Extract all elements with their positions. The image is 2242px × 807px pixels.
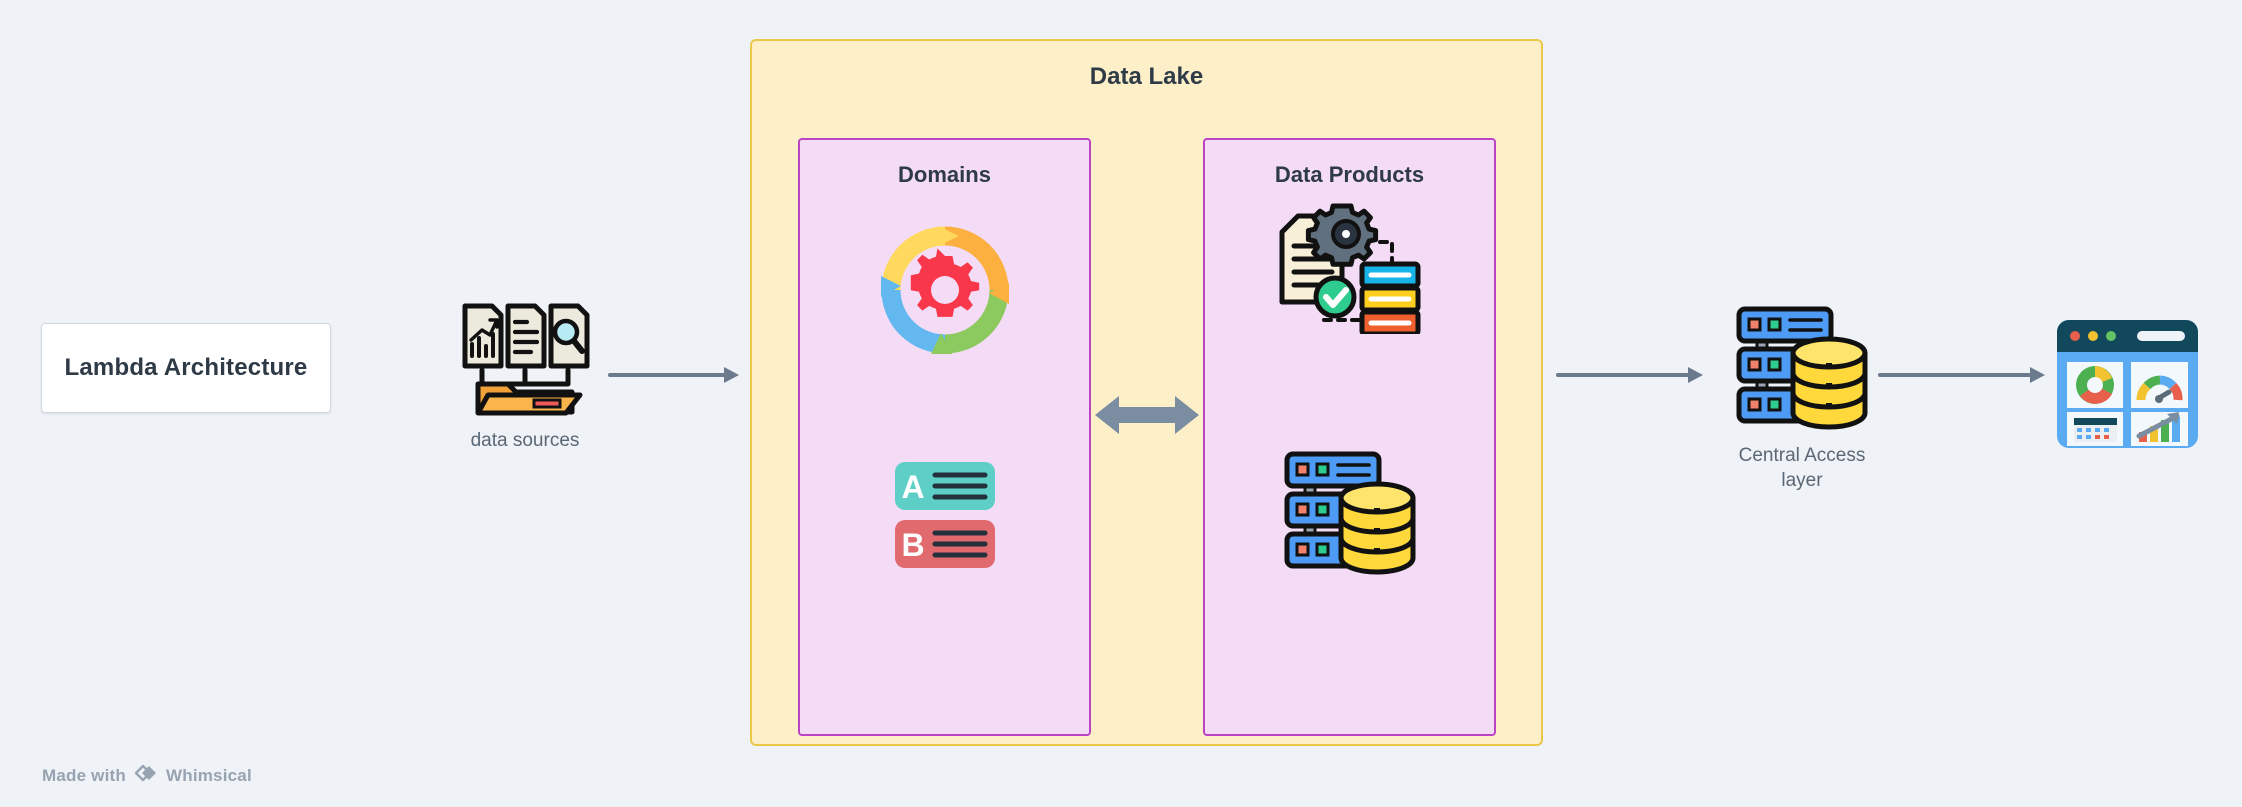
watermark-prefix: Made with (42, 766, 126, 786)
connector-domains-to-products (1093, 390, 1201, 440)
panel-data-products-title: Data Products (1205, 162, 1494, 188)
diagram-canvas: Lambda Architecture (0, 0, 2242, 807)
node-dashboard[interactable] (2055, 318, 2200, 455)
panel-domains-title: Domains (800, 162, 1089, 188)
data-lake-container[interactable]: Data Lake Domains (750, 39, 1543, 746)
lambda-architecture-label: Lambda Architecture (65, 352, 308, 384)
panel-data-products[interactable]: Data Products (1203, 138, 1496, 736)
watermark-brand: Whimsical (166, 766, 252, 786)
ab-cards-icon: A B (800, 460, 1089, 576)
central-access-caption: Central Access layer (1739, 444, 1866, 493)
connector-central-to-dashboard (1878, 363, 2048, 387)
connector-lake-to-central (1556, 363, 1706, 387)
panel-domains[interactable]: Domains (798, 138, 1091, 736)
node-data-sources[interactable]: data sources (460, 300, 590, 454)
dashboard-browser-icon (2055, 318, 2200, 455)
whimsical-watermark: Made with Whimsical (42, 763, 252, 788)
lambda-architecture-box[interactable]: Lambda Architecture (41, 323, 331, 413)
connector-sources-to-lake (608, 363, 742, 387)
server-database-icon (1735, 305, 1869, 436)
documents-folder-icon (460, 300, 590, 421)
node-central-access-layer[interactable]: Central Access layer (1712, 305, 1892, 493)
data-lake-title: Data Lake (752, 63, 1541, 91)
server-database-icon (1205, 450, 1494, 576)
whimsical-diamond-logo-icon (133, 763, 159, 788)
process-cycle-gear-icon (800, 220, 1089, 360)
svg-text:B: B (901, 527, 924, 563)
data-sources-caption: data sources (471, 429, 580, 454)
document-gear-pipeline-icon (1205, 202, 1494, 334)
svg-text:A: A (901, 469, 924, 505)
